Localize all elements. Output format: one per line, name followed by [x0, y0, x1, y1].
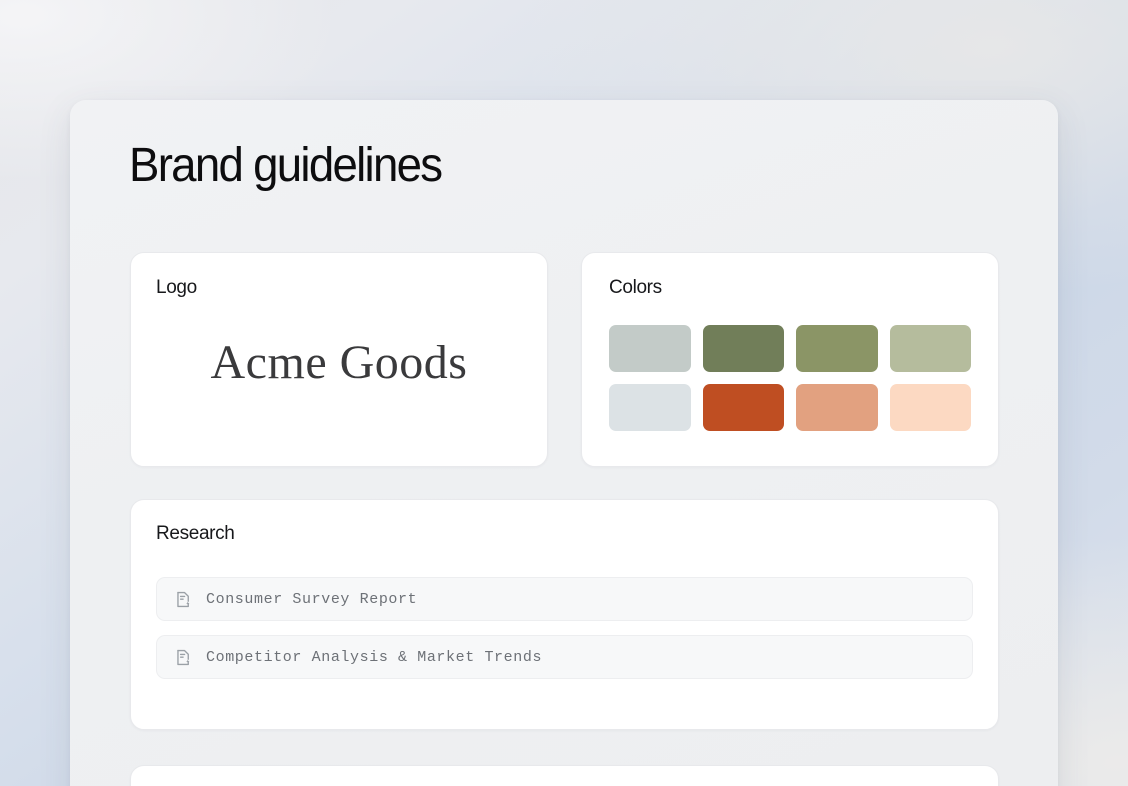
color-swatch-grid [609, 325, 971, 431]
colors-card-title: Colors [609, 277, 662, 299]
color-swatch-salmon[interactable] [796, 384, 878, 431]
logo-wordmark: Acme Goods [131, 335, 547, 390]
logo-card-title: Logo [156, 277, 197, 299]
research-card-title: Research [156, 523, 235, 545]
research-document-list: Consumer Survey Report Competitor Analys… [156, 577, 973, 679]
color-swatch-dark-olive[interactable] [703, 325, 785, 372]
document-sparkle-icon [174, 648, 193, 667]
document-row[interactable]: Competitor Analysis & Market Trends [156, 635, 973, 679]
document-sparkle-icon [174, 590, 193, 609]
color-swatch-olive[interactable] [796, 325, 878, 372]
document-row[interactable]: Consumer Survey Report [156, 577, 973, 621]
research-card: Research Consumer Survey Report [130, 499, 999, 730]
colors-card: Colors [581, 252, 999, 467]
content-panel: Brand guidelines Logo Acme Goods Colors … [70, 100, 1058, 786]
color-swatch-ice-blue[interactable] [609, 384, 691, 431]
next-card-partial [130, 765, 999, 786]
document-row-label: Competitor Analysis & Market Trends [206, 649, 542, 666]
color-swatch-light-sage[interactable] [890, 325, 972, 372]
logo-card: Logo Acme Goods [130, 252, 548, 467]
color-swatch-sage-gray[interactable] [609, 325, 691, 372]
document-row-label: Consumer Survey Report [206, 591, 417, 608]
page-title: Brand guidelines [129, 142, 441, 190]
color-swatch-burnt-orange[interactable] [703, 384, 785, 431]
color-swatch-pale-peach[interactable] [890, 384, 972, 431]
